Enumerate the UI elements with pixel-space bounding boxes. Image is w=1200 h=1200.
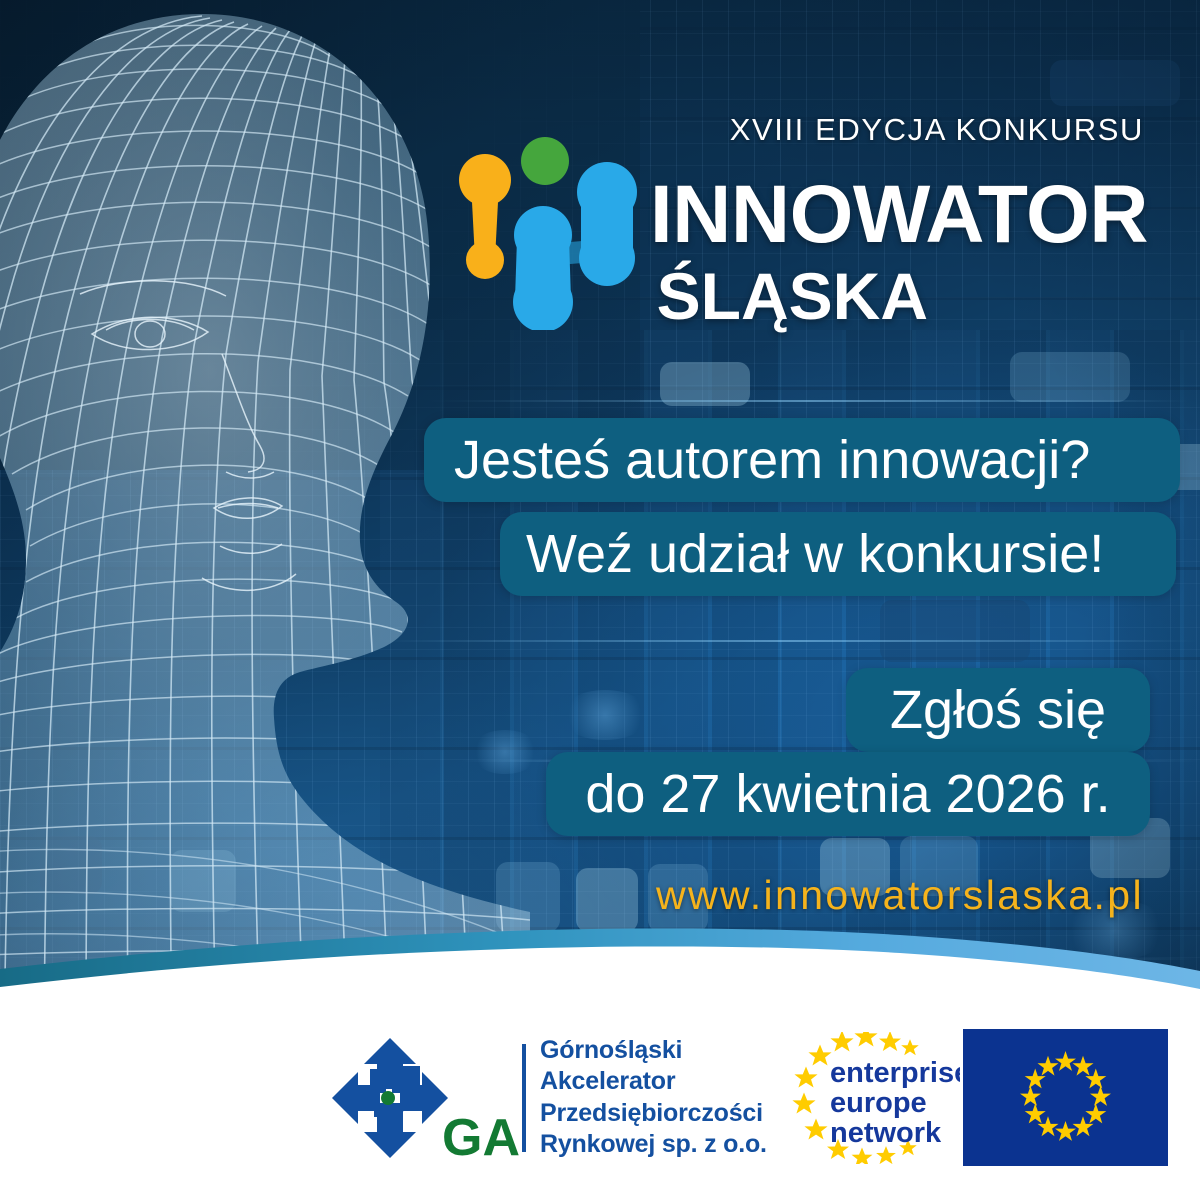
poster-root: XVIII EDYCJA KONKURSU INNOWATOR ŚLĄSKA J…: [0, 0, 1200, 1200]
gapr-name-line-3: Przedsiębiorczości: [540, 1098, 767, 1130]
website-url[interactable]: www.innowatorslaska.pl: [0, 872, 1144, 919]
gapr-logo: GAPR Górnośląski Akcelerator Przedsiębio…: [330, 1030, 760, 1165]
callout-apply: Zgłoś się: [846, 668, 1150, 752]
een-line-2: europe: [830, 1087, 927, 1119]
logo-blue-dumbbell-left: [513, 206, 573, 330]
logo-green-dot: [521, 137, 569, 185]
een-line-3: network: [830, 1117, 942, 1149]
gapr-arrows-icon: GAPR: [330, 1033, 520, 1163]
callout-deadline: do 27 kwietnia 2026 r.: [546, 752, 1150, 836]
gapr-divider-rule: [522, 1044, 526, 1152]
gapr-name-line-2: Akcelerator: [540, 1066, 767, 1098]
gapr-acronym: GAPR: [442, 1109, 520, 1163]
callout-question: Jesteś autorem innowacji?: [424, 418, 1180, 502]
innowator-logo-mark: [455, 135, 640, 330]
enterprise-europe-network-logo: enterprise europe network: [790, 1032, 960, 1164]
kicker-text: XVIII EDYCJA KONKURSU: [730, 112, 1144, 148]
logo-blue-dumbbell-right: [577, 162, 637, 286]
logo-orange-dumbbell: [459, 154, 511, 279]
gapr-name-line-4: Rynkowej sp. z o.o.: [540, 1129, 767, 1161]
eu-flag: [963, 1029, 1168, 1166]
gapr-name-line-1: Górnośląski: [540, 1035, 767, 1067]
gapr-fullname: Górnośląski Akcelerator Przedsiębiorczoś…: [540, 1035, 767, 1161]
callout-invitation: Weź udział w konkursie!: [500, 512, 1176, 596]
brand-title-line2: ŚLĄSKA: [657, 263, 928, 329]
brand-title-line1: INNOWATOR: [650, 176, 1148, 255]
een-line-1: enterprise: [830, 1057, 960, 1089]
